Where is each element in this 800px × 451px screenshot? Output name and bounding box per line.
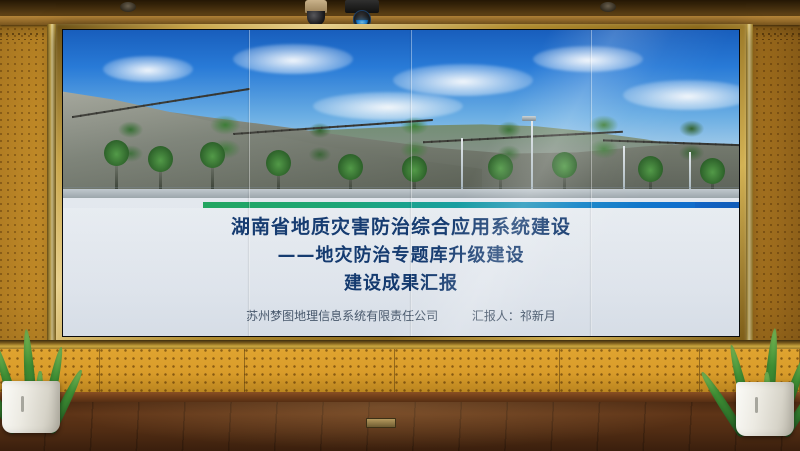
slide-footer-line: 苏州梦图地理信息系统有限责任公司 汇报人：祁新月	[63, 304, 739, 328]
pot-label-mark	[21, 396, 24, 412]
cloud-shape	[103, 56, 193, 82]
video-wall-seam-horizontal	[63, 187, 739, 188]
video-wall-bezel: 湖南省地质灾害防治综合应用系统建设 ——地灾防治专题库升级建设 建设成果汇报 苏…	[56, 24, 746, 344]
ceiling-spotlight-icon	[120, 2, 136, 12]
cloud-shape	[533, 46, 643, 72]
road-strip	[63, 189, 739, 198]
cloud-shape	[393, 64, 533, 96]
slide-title-line-3: 建设成果汇报	[63, 270, 739, 298]
plant-pot-right	[736, 382, 794, 436]
wall-panel	[245, 349, 395, 393]
slide-title-line-1: 湖南省地质灾害防治综合应用系统建设	[63, 212, 739, 242]
video-wall-screen[interactable]: 湖南省地质灾害防治综合应用系统建设 ——地灾防治专题库升级建设 建设成果汇报 苏…	[62, 29, 740, 337]
light-pole-head	[522, 116, 536, 121]
wood-floor	[0, 402, 800, 451]
video-wall-seam-vertical	[591, 30, 592, 336]
wall-panel	[560, 349, 700, 393]
potted-plant-right	[732, 286, 798, 436]
floor-reflection	[0, 402, 800, 451]
plant-pot-left	[2, 381, 60, 433]
slide-hero-photo	[63, 30, 739, 198]
panel-row	[0, 349, 800, 393]
slide-title-block: 湖南省地质灾害防治综合应用系统建设 ——地灾防治专题库升级建设 建设成果汇报 苏…	[63, 208, 739, 337]
slide-title-line-2: ——地灾防治专题库升级建设	[63, 242, 739, 270]
lower-wall-panel-row	[0, 340, 800, 402]
light-pole	[531, 118, 533, 198]
floor-access-plate	[366, 418, 396, 428]
ceiling-spotlight-icon	[600, 2, 616, 12]
video-wall-seam-vertical	[249, 30, 250, 336]
conference-room-scene: 湖南省地质灾害防治综合应用系统建设 ——地灾防治专题库升级建设 建设成果汇报 苏…	[0, 0, 800, 451]
presenter-name: 汇报人：祁新月	[472, 309, 556, 323]
pot-label-mark	[755, 397, 758, 413]
wall-panel	[395, 349, 560, 393]
company-name: 苏州梦图地理信息系统有限责任公司	[246, 309, 438, 323]
dome-camera-icon	[305, 0, 327, 27]
cloud-shape	[233, 44, 353, 74]
video-wall-seam-vertical	[411, 30, 412, 336]
wall-panel	[100, 349, 245, 393]
potted-plant-left	[2, 288, 66, 433]
